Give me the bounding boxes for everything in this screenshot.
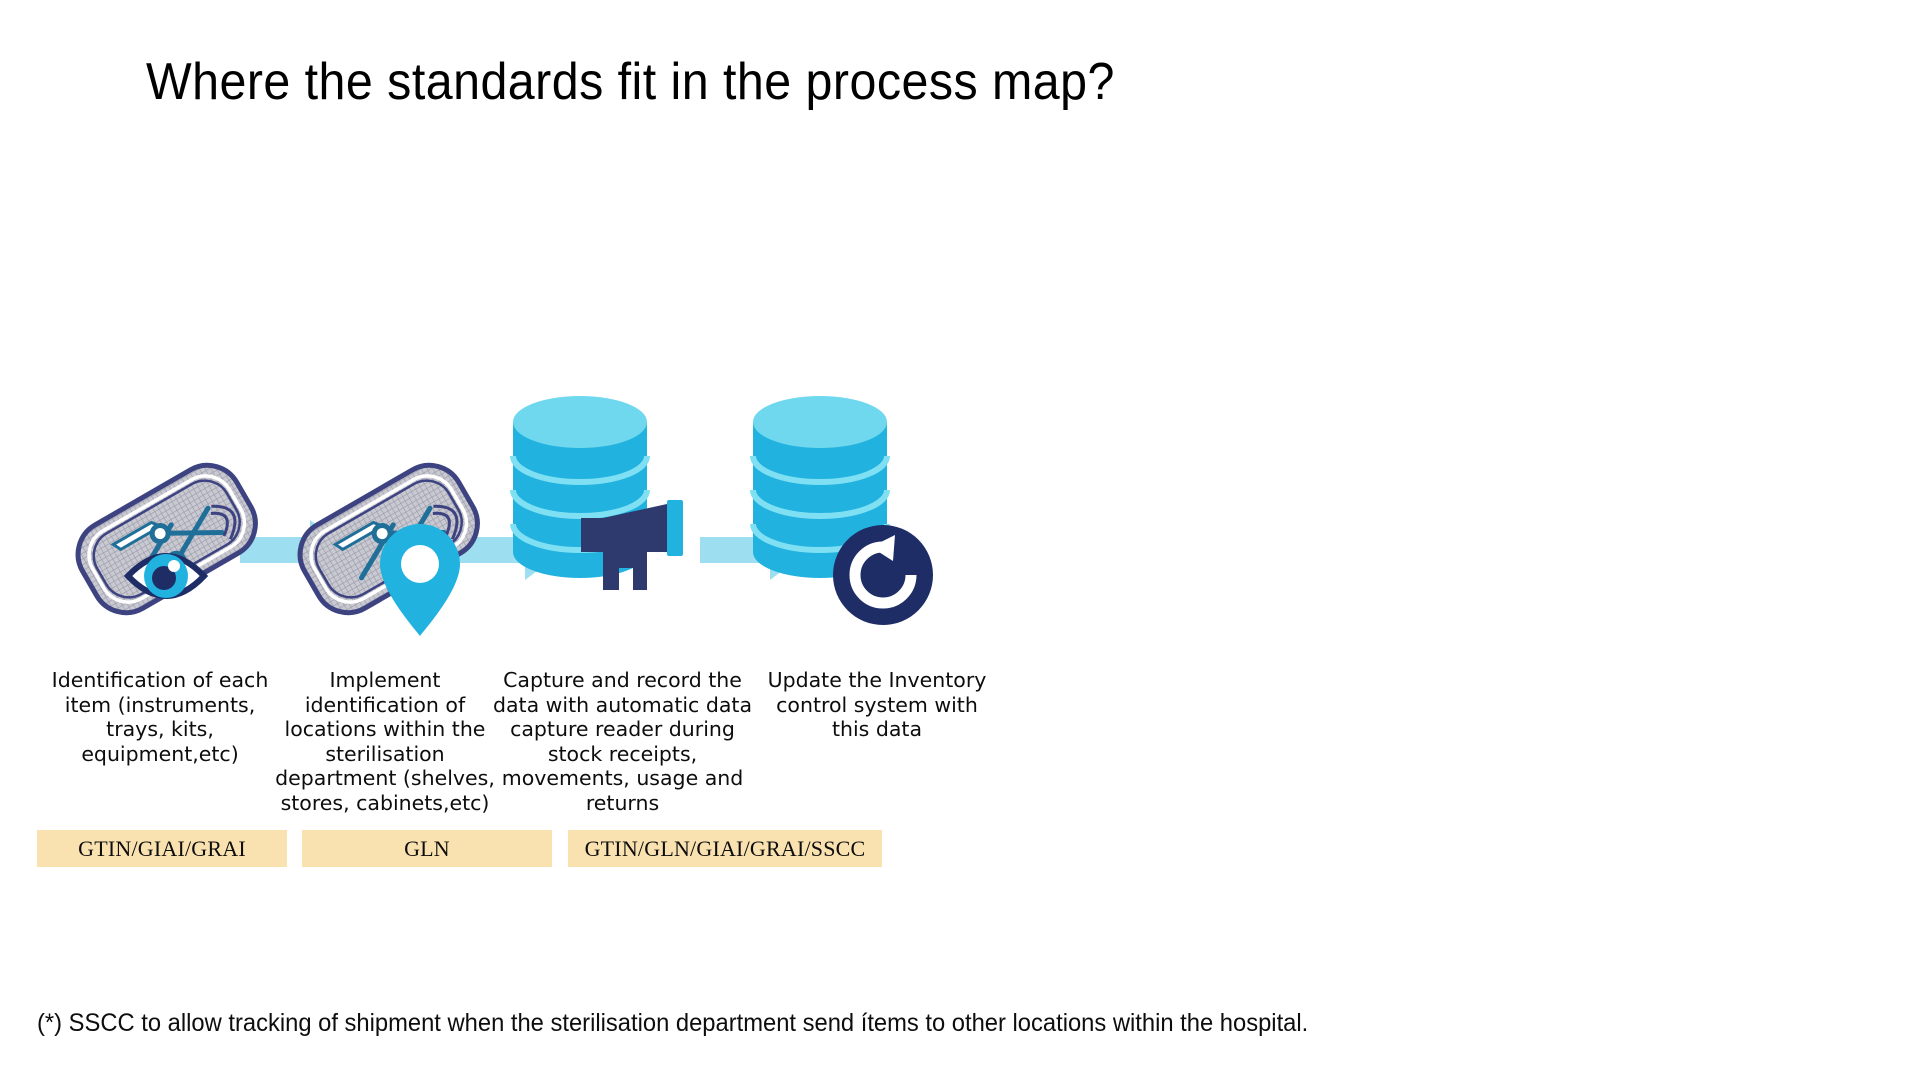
step-caption-1: Identification of each item (instruments…: [45, 668, 275, 766]
standard-box-3: GTIN/GLN/GIAI/GRAI/SSCC: [568, 830, 882, 867]
instrument-tray-icon: [66, 453, 268, 625]
caption-row: Identification of each item (instruments…: [0, 668, 1160, 813]
step-caption-2: Implement identification of locations wi…: [265, 668, 505, 815]
instrument-tray-icon: [288, 453, 490, 625]
page-title: Where the standards fit in the process m…: [146, 52, 1115, 112]
step-1-icon-group: [50, 430, 280, 640]
process-diagram: [0, 440, 1160, 660]
standard-box-2: GLN: [302, 830, 552, 867]
step-2-icon-group: [272, 430, 502, 640]
step-caption-3: Capture and record the data with automat…: [490, 668, 755, 815]
refresh-icon: [833, 525, 933, 625]
step-4-icon-group: [735, 370, 965, 640]
footnote-text: (*) SSCC to allow tracking of shipment w…: [37, 1009, 1308, 1038]
step-3-icon-group: [495, 370, 725, 640]
location-pin-icon: [380, 524, 460, 636]
standard-box-1: GTIN/GIAI/GRAI: [37, 830, 287, 867]
standards-row: GTIN/GIAI/GRAI GLN GTIN/GLN/GIAI/GRAI/SS…: [0, 830, 1160, 870]
step-caption-4: Update the Inventory control system with…: [762, 668, 992, 742]
